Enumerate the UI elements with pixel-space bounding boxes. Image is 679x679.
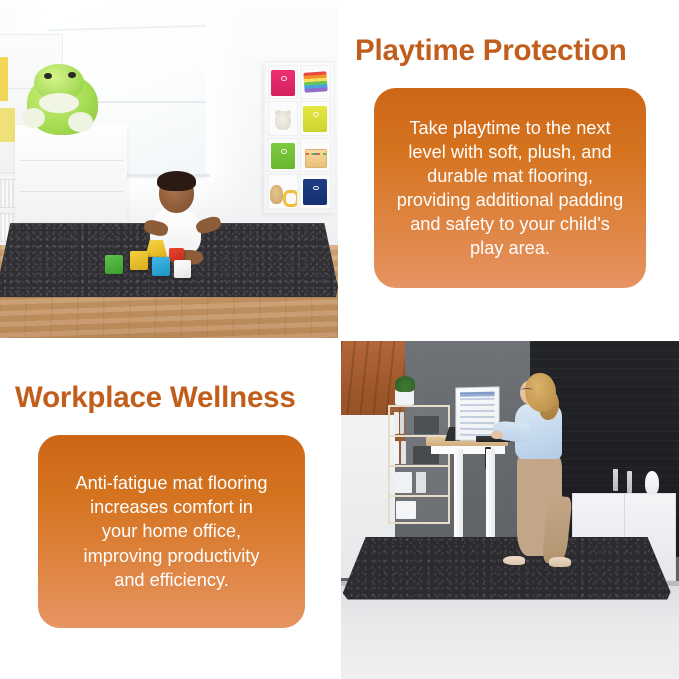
toy-box	[305, 149, 327, 168]
toy-block-white	[174, 260, 191, 278]
cube-cell	[268, 138, 298, 173]
playtime-protection-panel: Playtime Protection Take playtime to the…	[341, 0, 679, 338]
dresser-drawer	[19, 163, 124, 192]
page-title: Playtime Protection	[355, 36, 627, 66]
cube-cell	[268, 101, 298, 136]
cube-cell	[268, 65, 298, 100]
cube-cell	[300, 138, 330, 173]
playroom-scene	[0, 0, 338, 338]
binder	[400, 412, 404, 434]
plush-bear	[270, 185, 283, 204]
plant-pot	[395, 390, 414, 405]
xylophone-toy	[303, 72, 328, 93]
workplace-callout-box: Anti-fatigue mat flooring increases comf…	[38, 435, 305, 628]
workplace-callout-text: Anti-fatigue mat flooring increases comf…	[63, 471, 279, 591]
cube-cell	[268, 174, 298, 209]
cube-cell	[300, 65, 330, 100]
office-scene	[341, 341, 679, 679]
storage-bin-green	[271, 143, 295, 169]
cube-cell	[300, 101, 330, 136]
toy-block-yellow	[130, 251, 148, 270]
decorative-vase	[645, 471, 659, 495]
binder	[394, 412, 399, 434]
screen-content	[460, 391, 496, 436]
storage-box	[416, 472, 426, 494]
teddy-ear	[275, 110, 280, 115]
shelf-row	[390, 465, 447, 468]
toy-block-green	[105, 255, 123, 274]
storage-bin-yellow	[303, 106, 327, 132]
cube-cell	[300, 174, 330, 209]
book	[0, 57, 8, 101]
baby-hair	[157, 171, 197, 191]
frog-eye-icon	[68, 72, 76, 79]
woman-shoe-front	[503, 556, 525, 565]
woman-shoe-back	[549, 557, 571, 566]
anti-fatigue-mat	[343, 537, 671, 600]
binder	[401, 441, 406, 464]
office-photo	[341, 341, 679, 679]
book	[0, 108, 15, 142]
storage-bin-pink	[271, 70, 295, 96]
dresser-drawer	[19, 131, 124, 160]
frog-arm	[68, 112, 93, 132]
workplace-wellness-panel: Workplace Wellness Anti-fatigue mat floo…	[0, 341, 338, 679]
storage-bin-navy	[303, 179, 327, 205]
product-feature-collage: Playtime Protection Take playtime to the…	[0, 0, 679, 679]
playtime-callout-box: Take playtime to the next level with sof…	[374, 88, 646, 288]
dresser	[15, 125, 127, 230]
storage-box	[396, 501, 416, 518]
shelving-unit	[388, 405, 449, 524]
toy-block-cyan	[152, 257, 170, 277]
playtime-callout-text: Take playtime to the next level with sof…	[385, 116, 636, 260]
toy-block-red	[169, 248, 184, 260]
glasses-icon	[521, 388, 533, 394]
section-title: Workplace Wellness	[15, 383, 296, 413]
book-stack	[414, 416, 438, 433]
playroom-photo	[0, 0, 338, 338]
storage-box	[395, 472, 412, 494]
dresser-drawer	[19, 194, 124, 223]
shelf-row	[390, 495, 447, 498]
toy-keys	[283, 190, 298, 207]
binder	[394, 441, 400, 464]
bottle	[613, 469, 618, 491]
cube-storage-shelf	[264, 61, 335, 213]
bottle	[627, 471, 632, 493]
plant-icon	[395, 376, 415, 391]
